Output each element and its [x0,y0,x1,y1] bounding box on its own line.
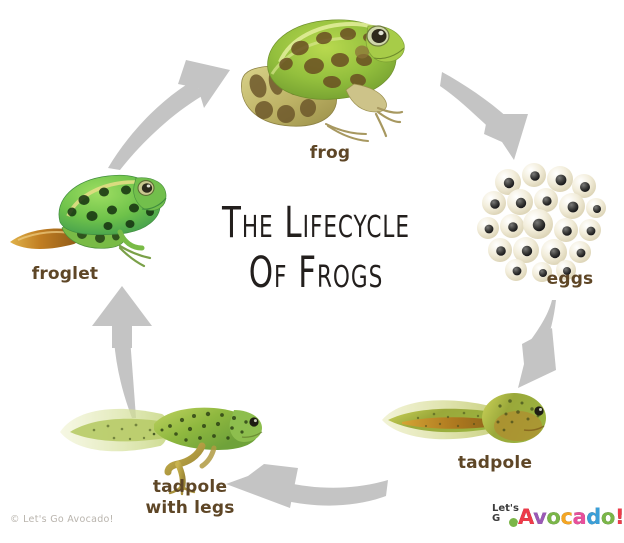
logo-letter-5: d [586,505,601,529]
logo-letter-2: o [546,505,560,529]
logo-avocado-wordmark: Avocado! [518,505,624,529]
page-title: The Lifecycle Of Frogs [207,198,425,298]
copyright-credit: © Let's Go Avocado! [10,514,114,525]
stage-label-eggs: eggs [515,269,624,290]
frog-illustration [228,8,408,143]
lifecycle-poster: The Lifecycle Of Frogs [0,0,624,543]
brand-logo: Let's G Avocado! [492,503,616,539]
stage-label-tadpole-with-legs: tadpole with legs [95,477,285,519]
stage-label-froglet: froglet [0,264,130,285]
eggs-illustration [478,162,610,280]
stage-label-tadpole: tadpole [420,453,570,474]
arrow-froglet-to-frog [98,42,238,172]
logo-go-text: G [492,514,500,524]
logo-letter-4: a [573,505,587,529]
froglet-illustration [8,160,168,272]
logo-letter-7: ! [615,505,624,529]
logo-letter-0: A [518,505,533,529]
logo-letter-3: c [560,505,572,529]
logo-letter-6: o [601,505,615,529]
logo-letter-1: v [533,505,546,529]
stage-label-frog: frog [260,143,400,164]
tadpole-illustration [378,386,560,456]
